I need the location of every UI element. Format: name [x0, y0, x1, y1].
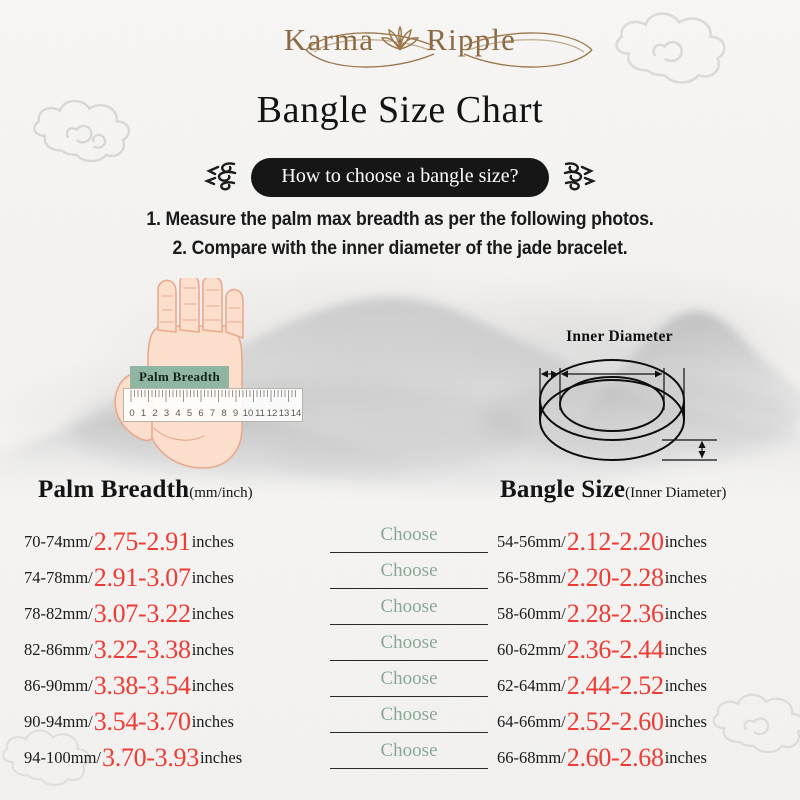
svg-text:3: 3: [164, 408, 169, 419]
palm-breadth-inch: 3.07-3.22: [93, 599, 192, 629]
connector-line: [330, 624, 488, 625]
table-row: 90-94mm/3.54-3.70inchesChoose64-66mm/2.5…: [0, 704, 800, 740]
connector-line: [330, 732, 488, 733]
svg-text:9: 9: [233, 408, 238, 419]
size-table: 70-74mm/2.75-2.91inchesChoose54-56mm/2.1…: [0, 524, 800, 776]
palm-breadth-header-main: Palm Breadth: [38, 476, 189, 503]
svg-text:4: 4: [175, 408, 180, 419]
palm-breadth-unit: inches: [192, 712, 234, 732]
choose-label[interactable]: Choose: [330, 632, 488, 655]
logo-flourish-icon: [284, 22, 614, 78]
bangle-size-mm: 62-64mm/: [497, 676, 566, 696]
palm-breadth-unit: inches: [200, 748, 242, 768]
bangle-size-mm: 66-68mm/: [497, 748, 566, 768]
bangle-size-inch: 2.44-2.52: [566, 671, 665, 701]
palm-breadth-unit: inches: [192, 604, 234, 624]
table-row: 94-100mm/3.70-3.93inchesChoose66-68mm/2.…: [0, 740, 800, 776]
connector-line: [330, 768, 488, 769]
instruction-step-1: 1. Measure the palm max breadth as per t…: [28, 205, 772, 234]
choose-cell[interactable]: Choose: [330, 740, 488, 776]
table-row: 74-78mm/2.91-3.07inchesChoose56-58mm/2.2…: [0, 560, 800, 596]
bangle-diagram-figure: Inner Diameter: [512, 328, 727, 473]
bangle-size-inch: 2.12-2.20: [566, 527, 665, 557]
bangle-size-value: 58-60mm/2.28-2.36inches: [497, 596, 707, 632]
palm-breadth-mm: 74-78mm/: [24, 568, 93, 588]
palm-breadth-mm: 86-90mm/: [24, 676, 93, 696]
palm-breadth-inch: 3.70-3.93: [101, 743, 200, 773]
svg-text:8: 8: [221, 408, 226, 419]
choose-cell[interactable]: Choose: [330, 632, 488, 668]
palm-breadth-badge: Palm Breadth: [130, 366, 229, 389]
hand-measurement-figure: Palm Breadth 012 345 678 91011 121314: [108, 278, 308, 473]
bangle-size-value: 66-68mm/2.60-2.68inches: [497, 740, 707, 776]
palm-breadth-mm: 82-86mm/: [24, 640, 93, 660]
choose-label[interactable]: Choose: [330, 560, 488, 583]
choose-cell[interactable]: Choose: [330, 596, 488, 632]
palm-breadth-value: 94-100mm/3.70-3.93inches: [24, 740, 242, 776]
bangle-size-inch: 2.28-2.36: [566, 599, 665, 629]
how-to-badge: How to choose a bangle size?: [251, 158, 548, 197]
choose-cell[interactable]: Choose: [330, 524, 488, 560]
bangle-size-value: 54-56mm/2.12-2.20inches: [497, 524, 707, 560]
palm-breadth-value: 74-78mm/2.91-3.07inches: [24, 560, 234, 596]
bangle-size-unit: inches: [665, 532, 707, 552]
size-chart-page: Karma Ripple Bangle Size Chart: [0, 0, 800, 800]
bangle-size-header-main: Bangle Size: [500, 476, 625, 503]
palm-breadth-value: 82-86mm/3.22-3.38inches: [24, 632, 234, 668]
bangle-size-inch: 2.52-2.60: [566, 707, 665, 737]
bangle-size-unit: inches: [665, 676, 707, 696]
bangle-ring-icon: [512, 328, 727, 473]
connector-line: [330, 552, 488, 553]
bangle-size-inch: 2.20-2.28: [566, 563, 665, 593]
bangle-size-mm: 58-60mm/: [497, 604, 566, 624]
instruction-steps: 1. Measure the palm max breadth as per t…: [0, 205, 800, 264]
ruler-icon: 012 345 678 91011 121314: [123, 388, 303, 422]
choose-cell[interactable]: Choose: [330, 704, 488, 740]
palm-breadth-mm: 70-74mm/: [24, 532, 93, 552]
svg-text:5: 5: [187, 408, 192, 419]
palm-breadth-value: 86-90mm/3.38-3.54inches: [24, 668, 234, 704]
cloud-swirl-icon-left: [204, 158, 238, 197]
svg-text:1: 1: [141, 408, 146, 419]
svg-text:0: 0: [129, 408, 134, 419]
brand-logo: Karma Ripple: [0, 22, 800, 78]
instruction-step-2: 2. Compare with the inner diameter of th…: [28, 234, 772, 263]
palm-breadth-value: 90-94mm/3.54-3.70inches: [24, 704, 234, 740]
svg-text:2: 2: [152, 408, 157, 419]
bangle-size-mm: 54-56mm/: [497, 532, 566, 552]
connector-line: [330, 696, 488, 697]
palm-breadth-value: 78-82mm/3.07-3.22inches: [24, 596, 234, 632]
table-row: 70-74mm/2.75-2.91inchesChoose54-56mm/2.1…: [0, 524, 800, 560]
svg-text:12: 12: [267, 408, 278, 419]
palm-breadth-inch: 3.38-3.54: [93, 671, 192, 701]
choose-label[interactable]: Choose: [330, 704, 488, 727]
palm-breadth-unit: inches: [192, 568, 234, 588]
bangle-size-value: 62-64mm/2.44-2.52inches: [497, 668, 707, 704]
choose-label[interactable]: Choose: [330, 668, 488, 691]
ruler-ticks: [131, 390, 296, 402]
palm-breadth-mm: 90-94mm/: [24, 712, 93, 732]
ruler-numbers: 012 345 678 91011 121314: [129, 408, 301, 419]
palm-breadth-column-header: Palm Breadth(mm/inch): [38, 476, 253, 504]
bangle-size-unit: inches: [665, 568, 707, 588]
table-row: 82-86mm/3.22-3.38inchesChoose60-62mm/2.3…: [0, 632, 800, 668]
palm-breadth-header-sub: (mm/inch): [189, 485, 252, 501]
svg-text:6: 6: [198, 408, 203, 419]
connector-line: [330, 660, 488, 661]
palm-breadth-inch: 3.54-3.70: [93, 707, 192, 737]
table-row: 86-90mm/3.38-3.54inchesChoose62-64mm/2.4…: [0, 668, 800, 704]
page-title: Bangle Size Chart: [0, 88, 800, 132]
palm-breadth-unit: inches: [192, 676, 234, 696]
bangle-size-value: 64-66mm/2.52-2.60inches: [497, 704, 707, 740]
choose-cell[interactable]: Choose: [330, 668, 488, 704]
bangle-size-unit: inches: [665, 604, 707, 624]
svg-text:11: 11: [255, 408, 265, 419]
palm-breadth-unit: inches: [192, 532, 234, 552]
palm-breadth-mm: 94-100mm/: [24, 748, 101, 768]
palm-breadth-value: 70-74mm/2.75-2.91inches: [24, 524, 234, 560]
bangle-size-unit: inches: [665, 748, 707, 768]
badge-row: How to choose a bangle size?: [0, 155, 800, 199]
bangle-size-value: 60-62mm/2.36-2.44inches: [497, 632, 707, 668]
bangle-size-unit: inches: [665, 640, 707, 660]
svg-text:10: 10: [243, 408, 254, 419]
palm-breadth-inch: 2.91-3.07: [93, 563, 192, 593]
palm-breadth-inch: 3.22-3.38: [93, 635, 192, 665]
palm-breadth-unit: inches: [192, 640, 234, 660]
svg-text:14: 14: [291, 408, 302, 419]
table-row: 78-82mm/3.07-3.22inchesChoose58-60mm/2.2…: [0, 596, 800, 632]
connector-line: [330, 588, 488, 589]
cloud-swirl-icon-right: [562, 158, 596, 197]
palm-breadth-inch: 2.75-2.91: [93, 527, 192, 557]
choose-label[interactable]: Choose: [330, 740, 488, 763]
bangle-size-unit: inches: [665, 712, 707, 732]
bangle-size-mm: 60-62mm/: [497, 640, 566, 660]
choose-cell[interactable]: Choose: [330, 560, 488, 596]
palm-breadth-mm: 78-82mm/: [24, 604, 93, 624]
svg-text:13: 13: [279, 408, 290, 419]
bangle-size-mm: 56-58mm/: [497, 568, 566, 588]
bangle-size-mm: 64-66mm/: [497, 712, 566, 732]
bangle-size-value: 56-58mm/2.20-2.28inches: [497, 560, 707, 596]
bangle-size-header-sub: (Inner Diameter): [625, 485, 726, 501]
choose-label[interactable]: Choose: [330, 524, 488, 547]
bangle-size-column-header: Bangle Size(Inner Diameter): [500, 476, 726, 504]
svg-text:7: 7: [210, 408, 215, 419]
bangle-size-inch: 2.36-2.44: [566, 635, 665, 665]
choose-label[interactable]: Choose: [330, 596, 488, 619]
bangle-size-inch: 2.60-2.68: [566, 743, 665, 773]
